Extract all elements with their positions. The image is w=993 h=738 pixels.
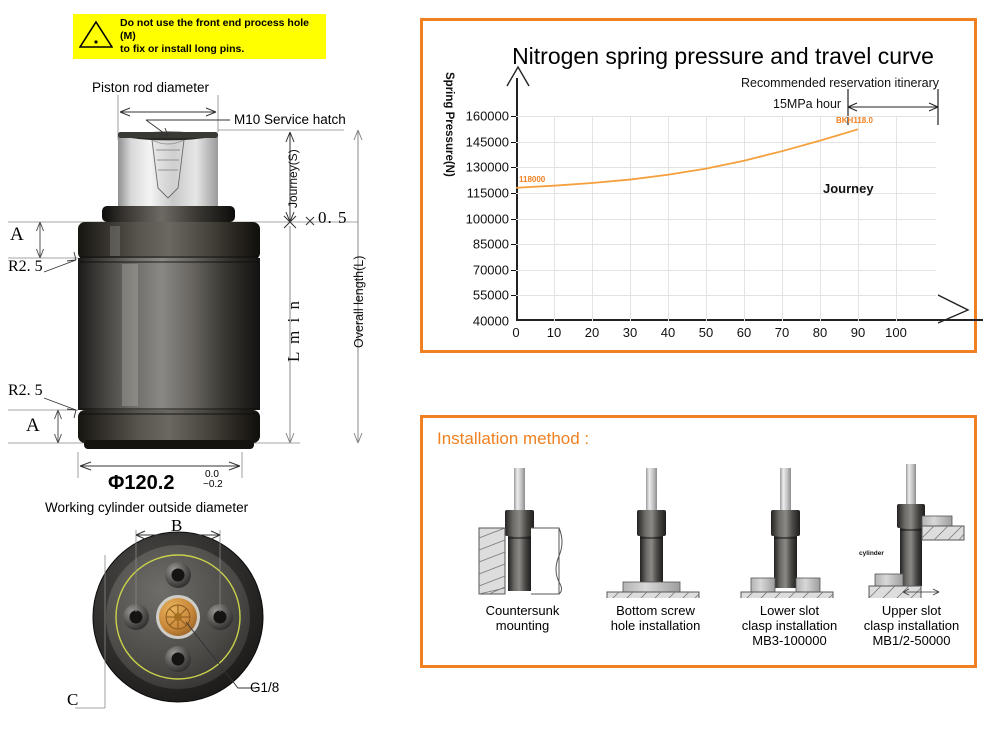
caption-upper-slot-clasp: Upper slot clasp installation MB1/2-5000… bbox=[844, 603, 979, 648]
piston-rod-diameter-label: Piston rod diameter bbox=[92, 80, 209, 95]
x-tick-40: 40 bbox=[661, 325, 675, 340]
x-tick-80: 80 bbox=[813, 325, 827, 340]
caption-line-2: clasp installation bbox=[844, 618, 979, 633]
radius-bottom-label: R2. 5 bbox=[8, 382, 43, 400]
x-tick-60: 60 bbox=[737, 325, 751, 340]
lower-slot-clasp-diagram bbox=[729, 468, 849, 598]
countersunk-mounting-diagram bbox=[463, 468, 583, 598]
cylinder-technical-drawing: Piston rod diameter M10 Service hatch Jo… bbox=[0, 0, 420, 733]
caption-line-1: Bottom screw bbox=[588, 603, 723, 618]
working-cylinder-diameter-label: Working cylinder outside diameter bbox=[45, 500, 248, 515]
caption-line-1: Lower slot bbox=[722, 603, 857, 618]
overall-length-label: Overall length(L) bbox=[352, 228, 366, 348]
y-tick-85000: 85000 bbox=[473, 237, 509, 252]
cylinder-note-label: cylinder bbox=[859, 550, 884, 557]
mpa-hour-annotation: 15MPa hour bbox=[773, 97, 841, 111]
chart-plot-area: 160000 145000 130000 115000 100000 85000… bbox=[516, 116, 936, 321]
x-tick-70: 70 bbox=[775, 325, 789, 340]
installation-method-title: Installation method : bbox=[437, 429, 589, 449]
radius-top-label: R2. 5 bbox=[8, 258, 43, 276]
y-tick-40000: 40000 bbox=[473, 314, 509, 329]
y-tick-130000: 130000 bbox=[466, 160, 509, 175]
port-thread-label: G1/8 bbox=[250, 680, 279, 695]
x-tick-100: 100 bbox=[885, 325, 907, 340]
chart-y-axis-label: Spring Pressure(N) bbox=[431, 69, 455, 179]
x-axis-arrow-icon bbox=[936, 291, 984, 325]
a-dimension-top-label: A bbox=[10, 224, 24, 246]
dimension-c-label: C bbox=[67, 690, 78, 710]
caption-line-1: Countersunk bbox=[455, 603, 590, 618]
a-dimension-bottom-label: A bbox=[26, 415, 40, 437]
x-tick-10: 10 bbox=[547, 325, 561, 340]
x-tick-30: 30 bbox=[623, 325, 637, 340]
y-axis-arrow-icon bbox=[505, 64, 531, 90]
pressure-travel-chart-panel: Nitrogen spring pressure and travel curv… bbox=[420, 18, 977, 353]
y-tick-70000: 70000 bbox=[473, 262, 509, 277]
caption-line-2: mounting bbox=[455, 618, 590, 633]
bottom-screw-hole-diagram bbox=[595, 468, 715, 598]
caption-line-1: Upper slot bbox=[844, 603, 979, 618]
caption-line-3: MB3-100000 bbox=[722, 633, 857, 648]
installation-method-panel: Installation method : bbox=[420, 415, 977, 668]
chart-series-bkh118 bbox=[516, 116, 936, 321]
tolerance-lower: −0.2 bbox=[203, 479, 223, 490]
journey-s-label: Journey(S) bbox=[286, 112, 300, 208]
y-tick-160000: 160000 bbox=[466, 109, 509, 124]
x-tick-0: 0 bbox=[512, 325, 519, 340]
drawing-svg bbox=[0, 0, 420, 733]
recommended-itinerary-annotation: Recommended reservation itinerary bbox=[741, 76, 939, 90]
caption-countersunk-mounting: Countersunk mounting bbox=[455, 603, 590, 633]
dimension-b-label: B bbox=[171, 516, 182, 536]
chart-title: Nitrogen spring pressure and travel curv… bbox=[483, 43, 963, 70]
y-tick-100000: 100000 bbox=[466, 211, 509, 226]
x-tick-20: 20 bbox=[585, 325, 599, 340]
caption-lower-slot-clasp: Lower slot clasp installation MB3-100000 bbox=[722, 603, 857, 648]
series-start-label: 118000 bbox=[519, 175, 545, 184]
x-tick-50: 50 bbox=[699, 325, 713, 340]
series-end-label: BKH118.0 bbox=[836, 116, 873, 125]
outer-diameter-label: Φ120.2 bbox=[108, 472, 174, 495]
caption-line-3: MB1/2-50000 bbox=[844, 633, 979, 648]
x-tick-90: 90 bbox=[851, 325, 865, 340]
l-min-label: L m i n bbox=[284, 282, 304, 362]
chart-x-axis-label: Journey bbox=[823, 181, 874, 196]
y-tick-145000: 145000 bbox=[466, 134, 509, 149]
caption-line-2: clasp installation bbox=[722, 618, 857, 633]
y-tick-55000: 55000 bbox=[473, 288, 509, 303]
upper-slot-clasp-diagram bbox=[863, 464, 983, 598]
y-tick-115000: 115000 bbox=[467, 185, 509, 200]
caption-line-2: hole installation bbox=[588, 618, 723, 633]
gap-dimension-label: 0. 5 bbox=[318, 208, 348, 228]
caption-bottom-screw-hole: Bottom screw hole installation bbox=[588, 603, 723, 633]
